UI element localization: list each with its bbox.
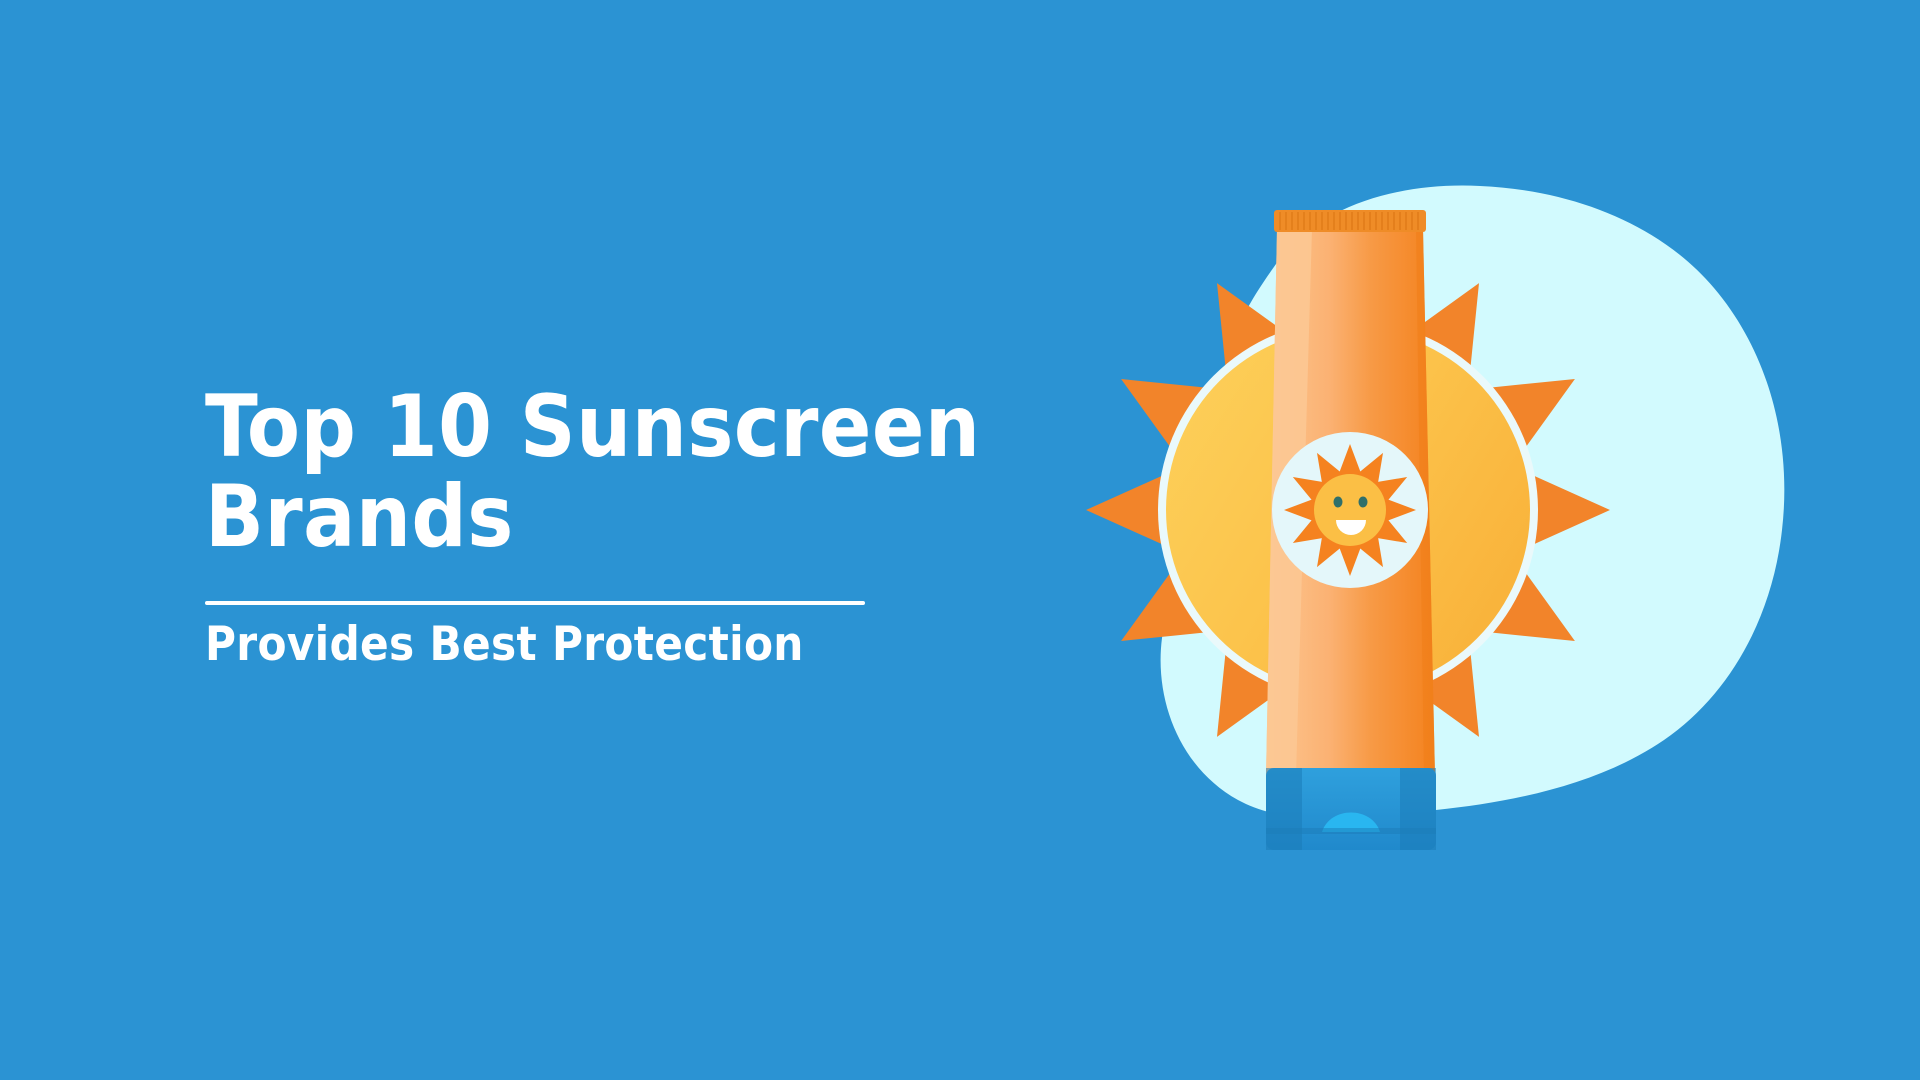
page-title: Top 10 Sunscreen Brands xyxy=(205,382,1075,563)
banner-text-block: Top 10 Sunscreen Brands Provides Best Pr… xyxy=(205,382,1075,670)
banner-subtitle: Provides Best Protection xyxy=(205,619,1075,671)
tube-seal xyxy=(1274,210,1426,232)
sunscreen-illustration xyxy=(1080,180,1800,880)
smiley-sun-logo-icon xyxy=(1272,432,1428,588)
sunscreen-banner: Top 10 Sunscreen Brands Provides Best Pr… xyxy=(0,0,1920,1080)
title-divider xyxy=(205,601,865,605)
sunscreen-illustration-svg xyxy=(1080,180,1800,880)
tube-cap xyxy=(1266,768,1436,850)
